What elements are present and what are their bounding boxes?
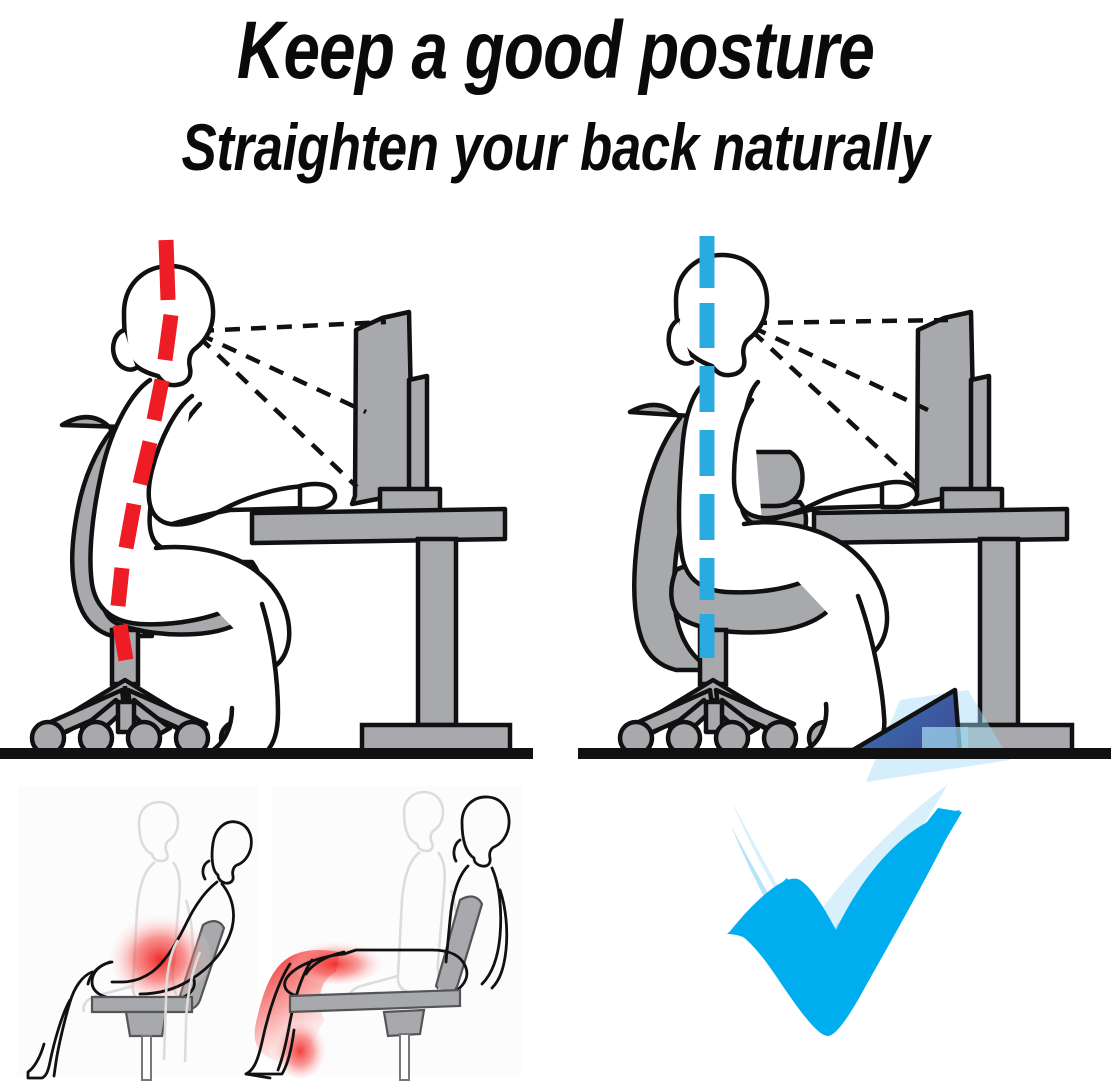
gaze-line-bottom	[199, 337, 357, 487]
seat-post-2	[400, 1034, 409, 1080]
poster-canvas: Keep a good posture Straighten your back…	[0, 0, 1111, 1082]
illustration-layer	[0, 0, 1111, 1082]
monitor-screen-left	[352, 312, 413, 504]
gaze-line-top	[752, 320, 948, 323]
gaze-line-middle	[199, 334, 366, 412]
monitor-stand-left	[409, 376, 427, 503]
lower-back-pain-panel	[18, 786, 258, 1080]
floor-line-right	[578, 748, 1111, 759]
gaze-line-middle	[752, 327, 928, 410]
monitor-stand-right	[971, 376, 989, 503]
desk-top-right	[814, 509, 1067, 543]
floor-line-left	[0, 748, 533, 759]
desk-top-left	[252, 509, 505, 543]
person-hand-right	[882, 482, 917, 507]
pain-glow-calf	[274, 1018, 326, 1078]
bad-posture-scene	[0, 240, 533, 759]
desk-leg-right	[980, 539, 1018, 725]
seat-post-1	[142, 1036, 151, 1080]
desk-left	[252, 312, 510, 753]
blue-checkmark-approval	[727, 784, 962, 1036]
person-hand-left	[300, 484, 335, 509]
seat-plate-1	[92, 997, 192, 1012]
seat-mech-2	[384, 1010, 424, 1036]
good-posture-scene	[578, 236, 1111, 782]
desk-leg-left	[418, 539, 456, 725]
seat-mech-1	[126, 1012, 166, 1036]
